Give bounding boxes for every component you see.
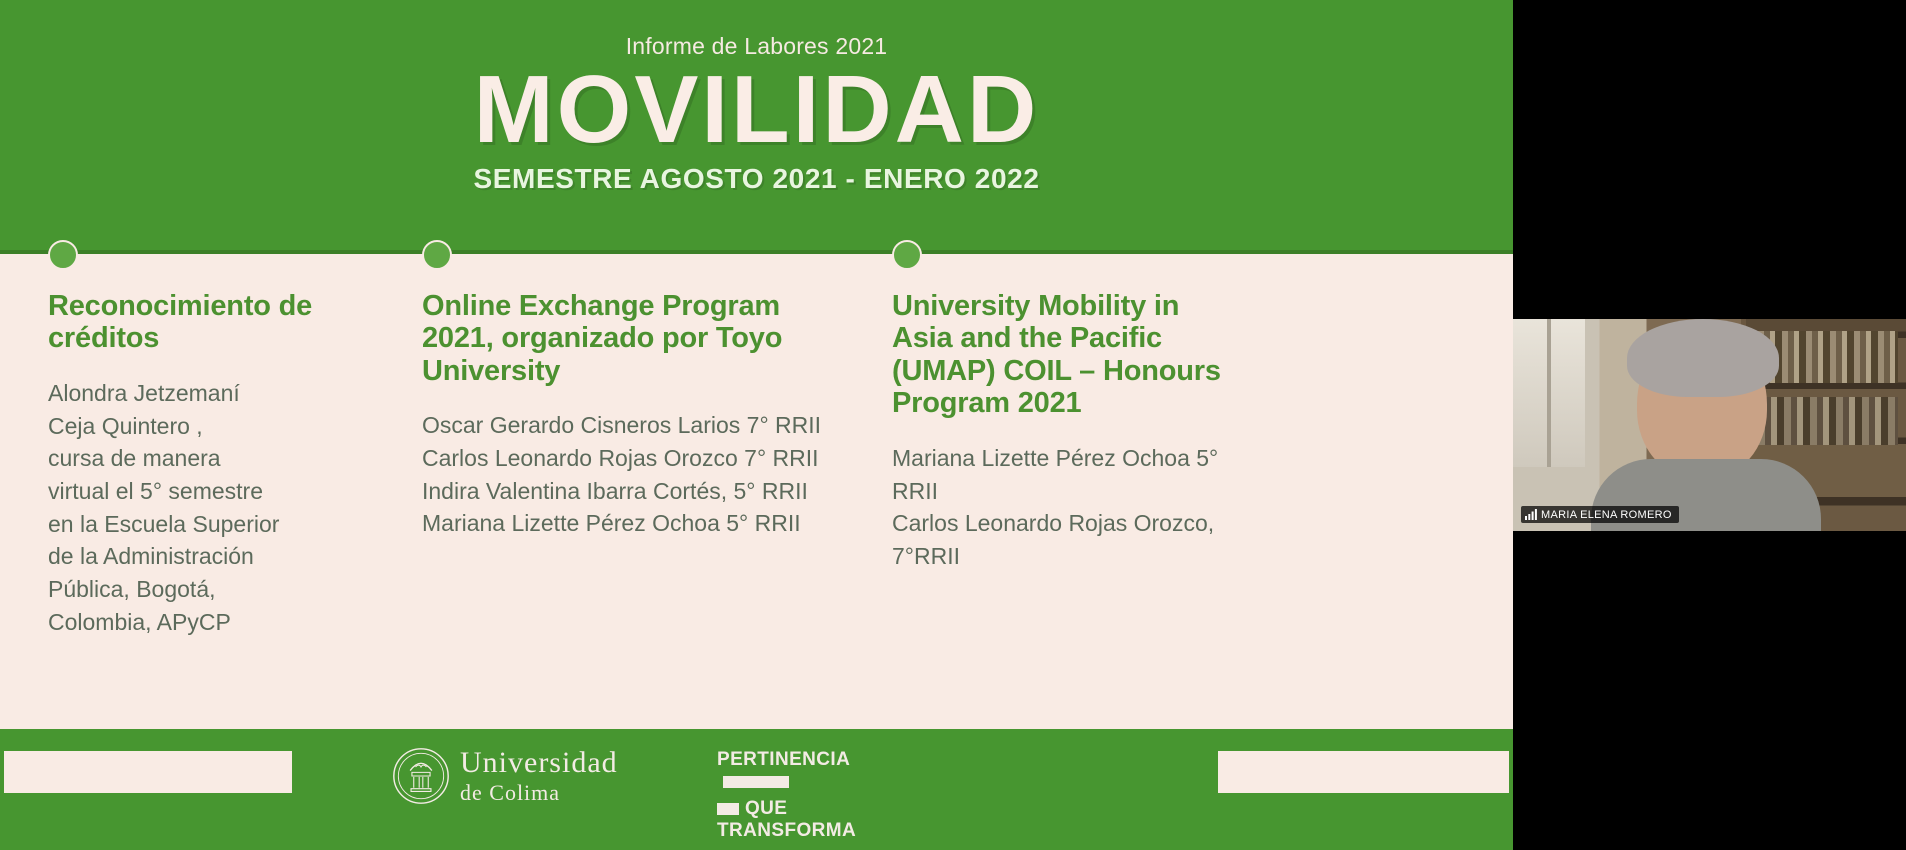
slide-footer: Universidad de Colima PERTINENCIA QUE TR… <box>0 729 1513 850</box>
column-2-title: Online Exchange Program 2021, organizado… <box>422 290 822 387</box>
participant-name-badge: MARIA ELENA ROMERO <box>1521 506 1679 523</box>
university-name-line1: Universidad <box>460 748 618 778</box>
universidad-de-colima-logo: Universidad de Colima <box>392 741 602 811</box>
column-3-title: University Mobility in Asia and the Paci… <box>892 290 1242 420</box>
slide-column-1: Reconocimiento de créditos Alondra Jetze… <box>48 254 316 638</box>
tagline-line1: PERTINENCIA <box>717 749 850 770</box>
slide-subtitle: SEMESTRE AGOSTO 2021 - ENERO 2022 <box>0 163 1513 195</box>
slide-header: Informe de Labores 2021 MOVILIDAD SEMEST… <box>0 0 1513 253</box>
slide-column-3: University Mobility in Asia and the Paci… <box>892 254 1242 573</box>
column-1-title: Reconocimiento de créditos <box>48 290 316 355</box>
footer-box-left <box>4 751 292 793</box>
column-2-body: Oscar Gerardo Cisneros Larios 7° RRII Ca… <box>422 409 822 540</box>
pertinencia-tagline: PERTINENCIA QUE TRANSFORMA <box>717 749 897 805</box>
shared-slide: Informe de Labores 2021 MOVILIDAD SEMEST… <box>0 0 1513 850</box>
slide-column-2: Online Exchange Program 2021, organizado… <box>422 254 822 540</box>
column-3-body: Mariana Lizette Pérez Ochoa 5° RRII Carl… <box>892 442 1242 573</box>
tagline-bar-2 <box>717 803 739 815</box>
tagline-bar-1 <box>723 776 789 788</box>
participant-video-tile[interactable]: MARIA ELENA ROMERO <box>1513 319 1906 531</box>
slide-title: MOVILIDAD <box>0 60 1513 161</box>
footer-box-right <box>1218 751 1509 793</box>
books-row-bottom <box>1758 397 1898 445</box>
slide-columns: Reconocimiento de créditos Alondra Jetze… <box>0 254 1513 728</box>
books-row-top <box>1758 331 1898 383</box>
university-crest-icon <box>392 747 450 805</box>
column-1-body: Alondra Jetzemaní Ceja Quintero , cursa … <box>48 377 316 638</box>
university-name-line2: de Colima <box>460 782 618 804</box>
audio-signal-icon <box>1525 509 1537 520</box>
window-background <box>1513 319 1585 467</box>
participant-name-label: MARIA ELENA ROMERO <box>1541 509 1672 521</box>
participant-hair <box>1627 319 1779 397</box>
meeting-screen: Informe de Labores 2021 MOVILIDAD SEMEST… <box>0 0 1906 850</box>
